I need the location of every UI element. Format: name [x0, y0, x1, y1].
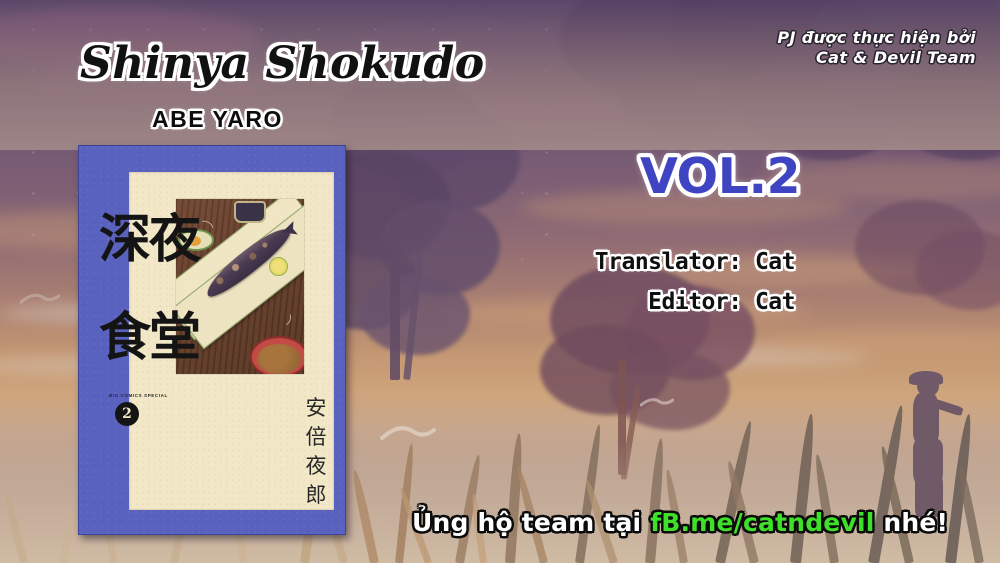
- dark-bowl: [234, 201, 266, 223]
- volume-label: VOL.2: [640, 148, 800, 205]
- support-footer: Ủng hộ team tại fB.me/catndevil nhé!: [412, 508, 948, 537]
- support-text-prefix: Ủng hộ team tại: [412, 508, 650, 537]
- series-title: Shinya Shokudo: [80, 38, 485, 89]
- series-author: ABE YARO: [152, 106, 283, 133]
- cover-imprint-label: BIG COMICS SPECIAL: [109, 393, 168, 399]
- kanji-ya2: 夜: [301, 452, 331, 481]
- kanji-dou: 堂: [149, 289, 199, 387]
- cover-japanese-title: 深 夜 食 堂: [99, 191, 199, 386]
- editor-credit: Editor: Cat: [595, 283, 795, 323]
- kanji-ya: 夜: [149, 191, 199, 289]
- translator-credit: Translator: Cat: [595, 243, 795, 283]
- cover-japanese-author: 安 倍 夜 郎: [301, 394, 331, 510]
- manga-credits-page: 深 夜 食 堂 BIG COMICS SPECIAL 2 安 倍 夜 郎 Shi…: [0, 0, 1000, 563]
- kanji-an: 安: [301, 394, 331, 423]
- project-team-credit: PJ được thực hiện bởi Cat & Devil Team: [777, 28, 976, 69]
- lemon-slice: [269, 257, 288, 276]
- staff-credits: Translator: Cat Editor: Cat: [595, 243, 795, 322]
- kanji-shin: 深: [99, 191, 149, 289]
- kanji-rou: 郎: [301, 481, 331, 510]
- support-link[interactable]: fB.me/catndevil: [650, 508, 874, 537]
- project-credit-line-2: Cat & Devil Team: [777, 48, 976, 68]
- miso-soup-bowl: [250, 336, 304, 374]
- kanji-bai: 倍: [301, 423, 331, 452]
- book-cover-image: 深 夜 食 堂 BIG COMICS SPECIAL 2 安 倍 夜 郎: [78, 145, 346, 535]
- support-text-suffix: nhé!: [875, 508, 949, 537]
- project-credit-line-1: PJ được thực hiện bởi: [777, 28, 976, 48]
- kanji-shoku: 食: [99, 289, 149, 387]
- cover-volume-number: 2: [115, 402, 139, 426]
